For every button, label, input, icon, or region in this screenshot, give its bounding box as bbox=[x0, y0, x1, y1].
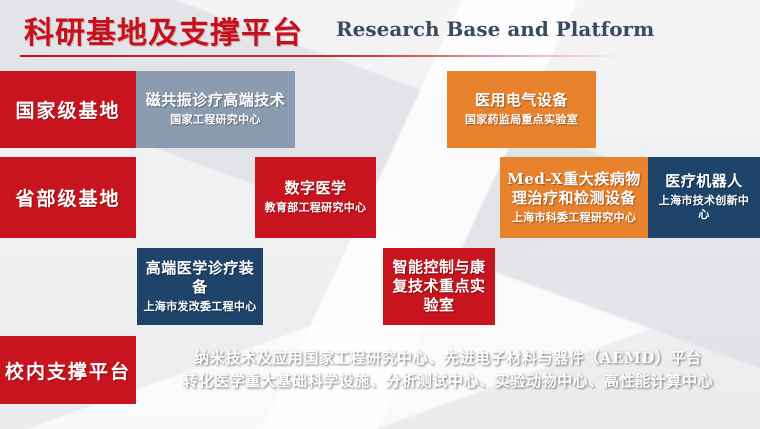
card-high-end-diagnostic-equipment[interactable]: 高端医学诊疗装备 上海市发改委工程中心 bbox=[137, 248, 263, 325]
row-label-national[interactable]: 国家级基地 bbox=[0, 71, 136, 148]
row-label-text: 省部级基地 bbox=[15, 184, 120, 211]
card-intelligent-control-rehab-lab[interactable]: 智能控制与康复技术重点实验室 bbox=[383, 248, 495, 325]
campus-platform-overlay-text: 纳米技术及应用国家工程研究中心、先进电子材料与器件（AEMD）平台 转化医学重大… bbox=[136, 336, 760, 404]
row-national-base: 国家级基地 磁共振诊疗高端技术 国家工程研究中心 SHENDI 全新一代磁共振成… bbox=[0, 71, 760, 148]
row-provincial-base: 省部级基地 数字医学 教育部工程研究中心 Med-X重大疾病物理治疗和检测设备 … bbox=[0, 157, 760, 238]
card-medical-robot[interactable]: 医疗机器人 上海市技术创新中心 bbox=[648, 157, 760, 238]
row-label-campus-support[interactable]: 校内支撑平台 bbox=[0, 336, 136, 404]
card-medx-equipment[interactable]: Med-X重大疾病物理治疗和检测设备 上海市科委工程研究中心 bbox=[500, 157, 648, 238]
row-campus-support-platform: 校内支撑平台 纳米技术及应用国家工程研究中心、先进电子材料与器件（AEMD）平台… bbox=[0, 336, 760, 404]
card-medical-electrical-equipment[interactable]: 医用电气设备 国家药监局重点实验室 bbox=[447, 71, 596, 148]
card-title: 医疗机器人 bbox=[665, 172, 743, 191]
card-subtitle: 上海市技术创新中心 bbox=[654, 194, 754, 223]
card-title: 数字医学 bbox=[284, 179, 346, 198]
card-title: 智能控制与康复技术重点实验室 bbox=[389, 258, 489, 314]
row-label-text: 国家级基地 bbox=[15, 96, 120, 123]
row-label-text: 校内支撑平台 bbox=[5, 357, 131, 384]
row-platform-extra: 高端医学诊疗装备 上海市发改委工程中心 智能控制与康复技术重点实验室 bbox=[0, 248, 760, 325]
overlay-line-2: 转化医学重大基础科学设施、分析测试中心、实验动物中心、高性能计算中心 bbox=[183, 370, 713, 393]
card-title: Med-X重大疾病物理治疗和检测设备 bbox=[506, 170, 642, 208]
card-mri-technology[interactable]: 磁共振诊疗高端技术 国家工程研究中心 bbox=[136, 71, 295, 148]
card-subtitle: 上海市科委工程研究中心 bbox=[512, 211, 636, 225]
card-title: 磁共振诊疗高端技术 bbox=[146, 91, 286, 110]
card-digital-medicine[interactable]: 数字医学 教育部工程研究中心 bbox=[255, 157, 376, 238]
card-subtitle: 国家药监局重点实验室 bbox=[465, 113, 578, 127]
page-title-cn: 科研基地及支撑平台 bbox=[24, 8, 303, 52]
card-subtitle: 上海市发改委工程中心 bbox=[144, 300, 257, 314]
page-header: 科研基地及支撑平台 Research Base and Platform bbox=[0, 0, 760, 62]
card-title: 高端医学诊疗装备 bbox=[143, 259, 257, 297]
row-label-provincial[interactable]: 省部级基地 bbox=[0, 157, 136, 238]
card-subtitle: 教育部工程研究中心 bbox=[265, 201, 367, 215]
overlay-line-1: 纳米技术及应用国家工程研究中心、先进电子材料与器件（AEMD）平台 bbox=[194, 347, 702, 370]
page-title-en: Research Base and Platform bbox=[336, 17, 654, 41]
header-divider bbox=[20, 55, 624, 57]
card-title: 医用电气设备 bbox=[475, 91, 568, 110]
card-subtitle: 国家工程研究中心 bbox=[170, 113, 260, 127]
